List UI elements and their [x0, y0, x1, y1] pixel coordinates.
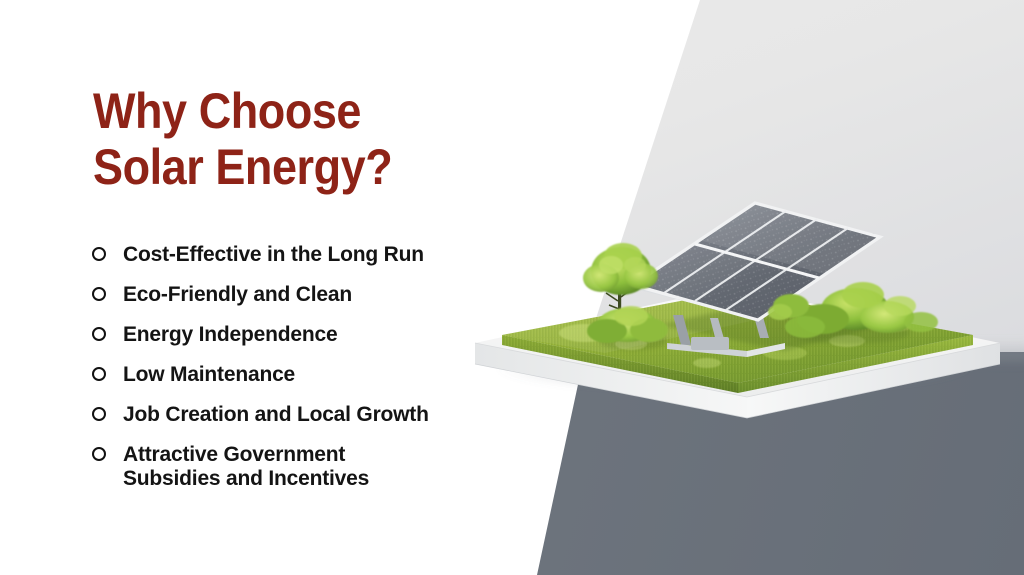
list-item-label: Attractive Government Subsidies and Ince… [123, 443, 369, 491]
ring-bullet-icon [92, 287, 106, 301]
benefits-list: Cost-Effective in the Long Run Eco-Frien… [92, 243, 542, 491]
slide-canvas: Why Choose Solar Energy? Cost-Effective … [0, 0, 1024, 575]
list-item: Job Creation and Local Growth [92, 403, 542, 427]
ring-bullet-icon [92, 327, 106, 341]
ring-bullet-icon [92, 367, 106, 381]
page-title: Why Choose Solar Energy? [93, 83, 392, 195]
list-item-label: Energy Independence [123, 323, 337, 347]
list-item: Low Maintenance [92, 363, 542, 387]
list-item: Cost-Effective in the Long Run [92, 243, 542, 267]
list-item: Eco-Friendly and Clean [92, 283, 542, 307]
ring-bullet-icon [92, 407, 106, 421]
list-item-label: Cost-Effective in the Long Run [123, 243, 424, 267]
list-item: Energy Independence [92, 323, 542, 347]
list-item-label: Job Creation and Local Growth [123, 403, 429, 427]
ring-bullet-icon [92, 447, 106, 461]
ring-bullet-icon [92, 247, 106, 261]
list-item-label: Low Maintenance [123, 363, 295, 387]
text-column: Why Choose Solar Energy? Cost-Effective … [0, 0, 560, 575]
list-item: Attractive Government Subsidies and Ince… [92, 443, 542, 491]
list-item-label: Eco-Friendly and Clean [123, 283, 352, 307]
